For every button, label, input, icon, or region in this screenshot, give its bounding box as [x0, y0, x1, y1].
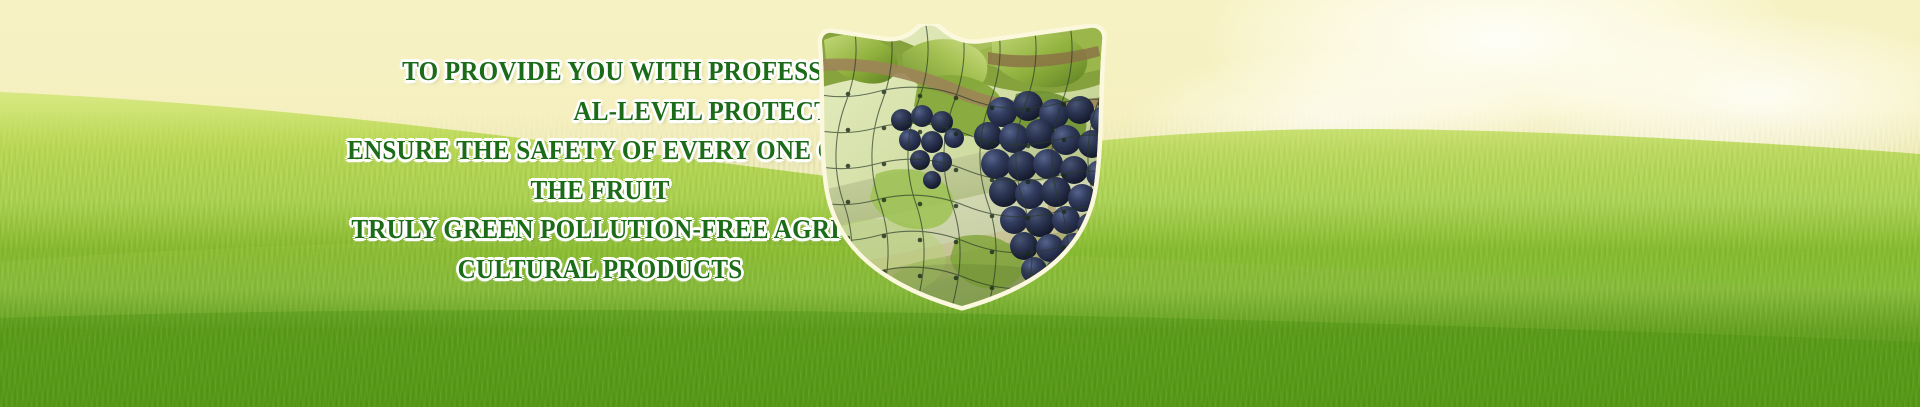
headline-line-3: ENSURE THE SAFETY OF EVERY ONE OF	[321, 131, 879, 171]
headline-line-4: THE FRUIT	[321, 171, 879, 211]
headline-line-2: AL-LEVEL PROTECTION	[321, 92, 879, 132]
headline-line-6: CULTURAL PRODUCTS	[321, 250, 879, 290]
headline-line-1: TO PROVIDE YOU WITH PROFESSION-	[321, 52, 879, 92]
hero-banner: TO PROVIDE YOU WITH PROFESSION- AL-LEVEL…	[0, 0, 1920, 407]
shield-photo	[806, 24, 1116, 312]
headline-line-5: TRULY GREEN POLLUTION-FREE AGRI-	[321, 210, 879, 250]
shield-emblem	[806, 24, 1116, 312]
